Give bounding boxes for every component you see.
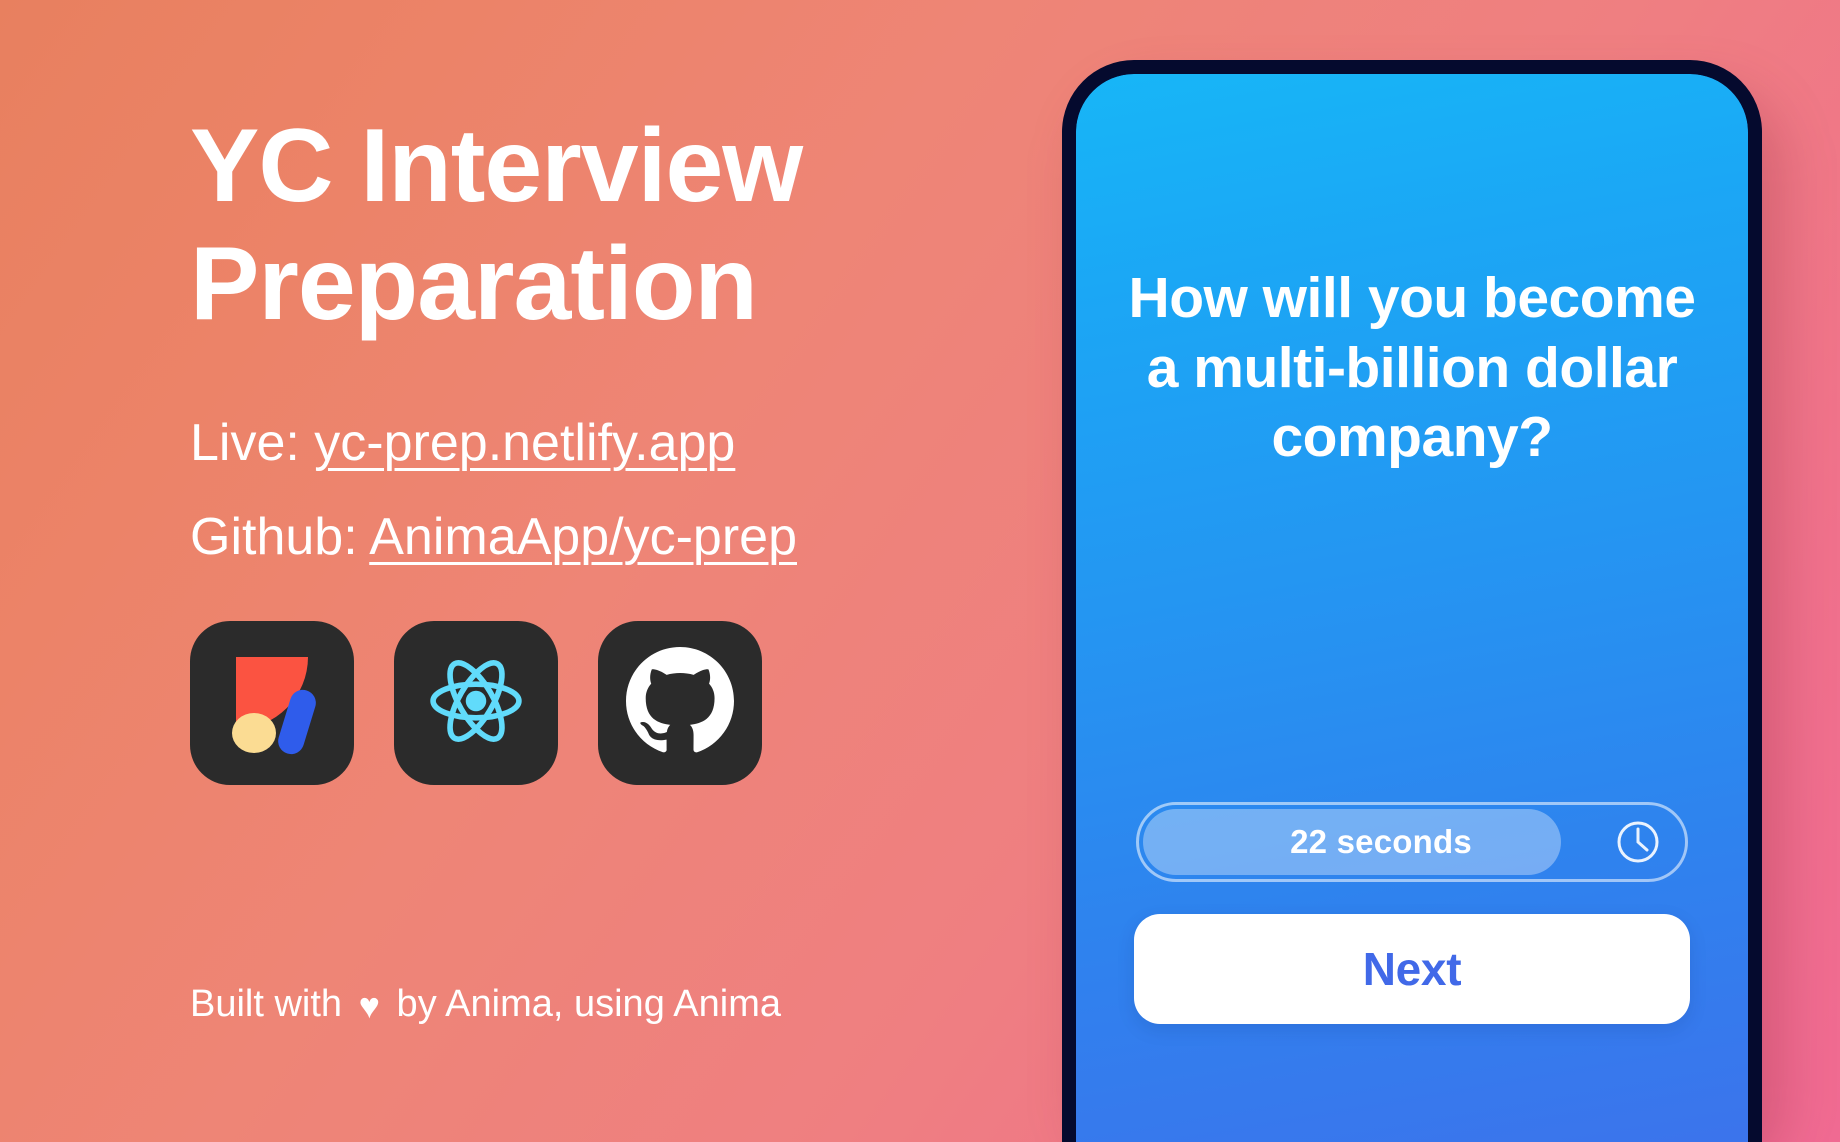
footer-suffix: by Anima, using Anima <box>386 983 781 1025</box>
footer-credit: Built with ♥ by Anima, using Anima <box>190 985 781 1024</box>
question-text: How will you become a multi-billion doll… <box>1126 264 1698 473</box>
timer-label: 22 seconds <box>1139 823 1685 861</box>
clock-icon <box>1613 817 1663 867</box>
live-link-label: Live: <box>190 414 314 472</box>
heart-icon: ♥ <box>353 988 386 1024</box>
phone-screen: How will you become a multi-billion doll… <box>1076 74 1748 1142</box>
anima-icon-tile[interactable] <box>190 621 354 785</box>
anima-icon <box>216 645 328 762</box>
page-title: YC Interview Preparation <box>190 108 830 343</box>
next-button[interactable]: Next <box>1134 914 1690 1024</box>
timer-progress-bar: 22 seconds <box>1136 802 1688 882</box>
live-link-row: Live: yc-prep.netlify.app <box>190 417 1060 469</box>
links-block: Live: yc-prep.netlify.app Github: AnimaA… <box>190 417 1060 563</box>
promo-banner: YC Interview Preparation Live: yc-prep.n… <box>0 0 1840 1142</box>
phone-mockup: How will you become a multi-billion doll… <box>1062 60 1762 1142</box>
github-icon-tile[interactable] <box>598 621 762 785</box>
tech-icon-row <box>190 621 1060 785</box>
github-icon <box>626 647 734 760</box>
react-icon <box>420 645 532 762</box>
github-link[interactable]: AnimaApp/yc-prep <box>369 508 797 566</box>
github-link-row: Github: AnimaApp/yc-prep <box>190 511 1060 563</box>
live-link[interactable]: yc-prep.netlify.app <box>314 414 735 472</box>
github-link-label: Github: <box>190 508 369 566</box>
left-panel: YC Interview Preparation Live: yc-prep.n… <box>0 0 1060 1142</box>
footer-prefix: Built with <box>190 983 353 1025</box>
react-icon-tile[interactable] <box>394 621 558 785</box>
